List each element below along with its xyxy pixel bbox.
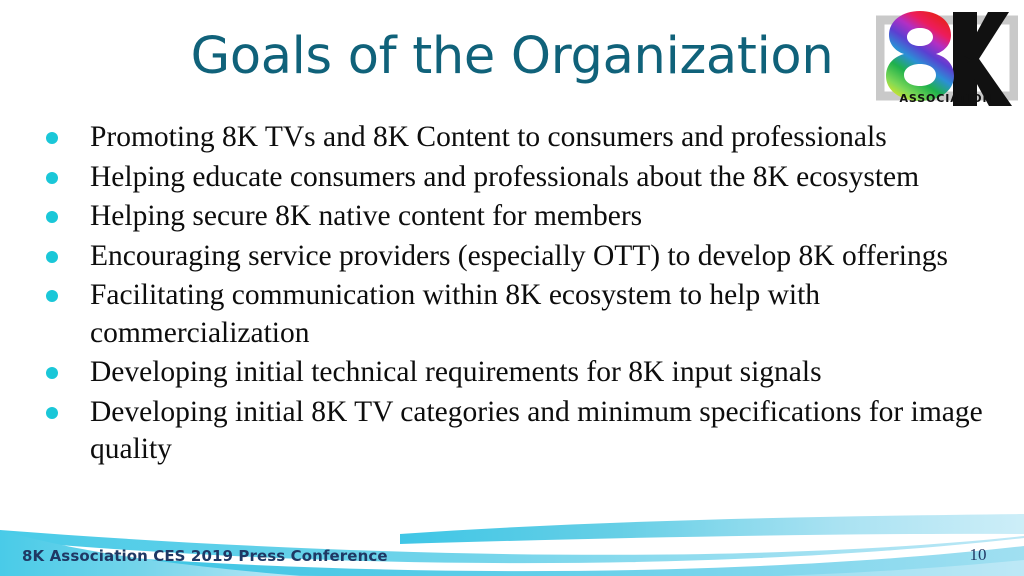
slide-footer: 8K Association CES 2019 Press Conference… xyxy=(0,500,1024,576)
list-item: Developing initial technical requirement… xyxy=(46,354,986,392)
list-item-label: Promoting 8K TVs and 8K Content to consu… xyxy=(90,119,986,157)
bullet-dot-icon xyxy=(46,367,58,379)
8k-association-logo: ASSOCIATION xyxy=(876,6,1018,112)
logo-wordmark: ASSOCIATION xyxy=(899,92,992,105)
list-item-label: Encouraging service providers (especiall… xyxy=(90,238,986,276)
list-item-label: Developing initial 8K TV categories and … xyxy=(90,394,986,469)
bullet-dot-icon xyxy=(46,132,58,144)
bullet-dot-icon xyxy=(46,251,58,263)
footer-label: 8K Association CES 2019 Press Conference xyxy=(22,547,388,565)
bullet-dot-icon xyxy=(46,172,58,184)
slide-canvas: Goals of the Organization xyxy=(0,0,1024,576)
bullet-dot-icon xyxy=(46,407,58,419)
bullet-dot-icon xyxy=(46,211,58,223)
page-number: 10 xyxy=(958,545,998,565)
list-item-label: Helping secure 8K native content for mem… xyxy=(90,198,986,236)
list-item: Facilitating communication within 8K eco… xyxy=(46,277,986,352)
list-item: Helping secure 8K native content for mem… xyxy=(46,198,986,236)
bullet-dot-icon xyxy=(46,290,58,302)
list-item: Helping educate consumers and profession… xyxy=(46,159,986,197)
list-item: Promoting 8K TVs and 8K Content to consu… xyxy=(46,119,986,157)
page-title: Goals of the Organization xyxy=(0,28,1024,86)
bullet-list: Promoting 8K TVs and 8K Content to consu… xyxy=(46,119,986,471)
list-item-label: Helping educate consumers and profession… xyxy=(90,159,986,197)
list-item-label: Facilitating communication within 8K eco… xyxy=(90,277,986,352)
footer-wave-upper xyxy=(400,514,1024,544)
logo-digit-8 xyxy=(886,11,954,101)
list-item: Developing initial 8K TV categories and … xyxy=(46,394,986,469)
list-item: Encouraging service providers (especiall… xyxy=(46,238,986,276)
list-item-label: Developing initial technical requirement… xyxy=(90,354,986,392)
